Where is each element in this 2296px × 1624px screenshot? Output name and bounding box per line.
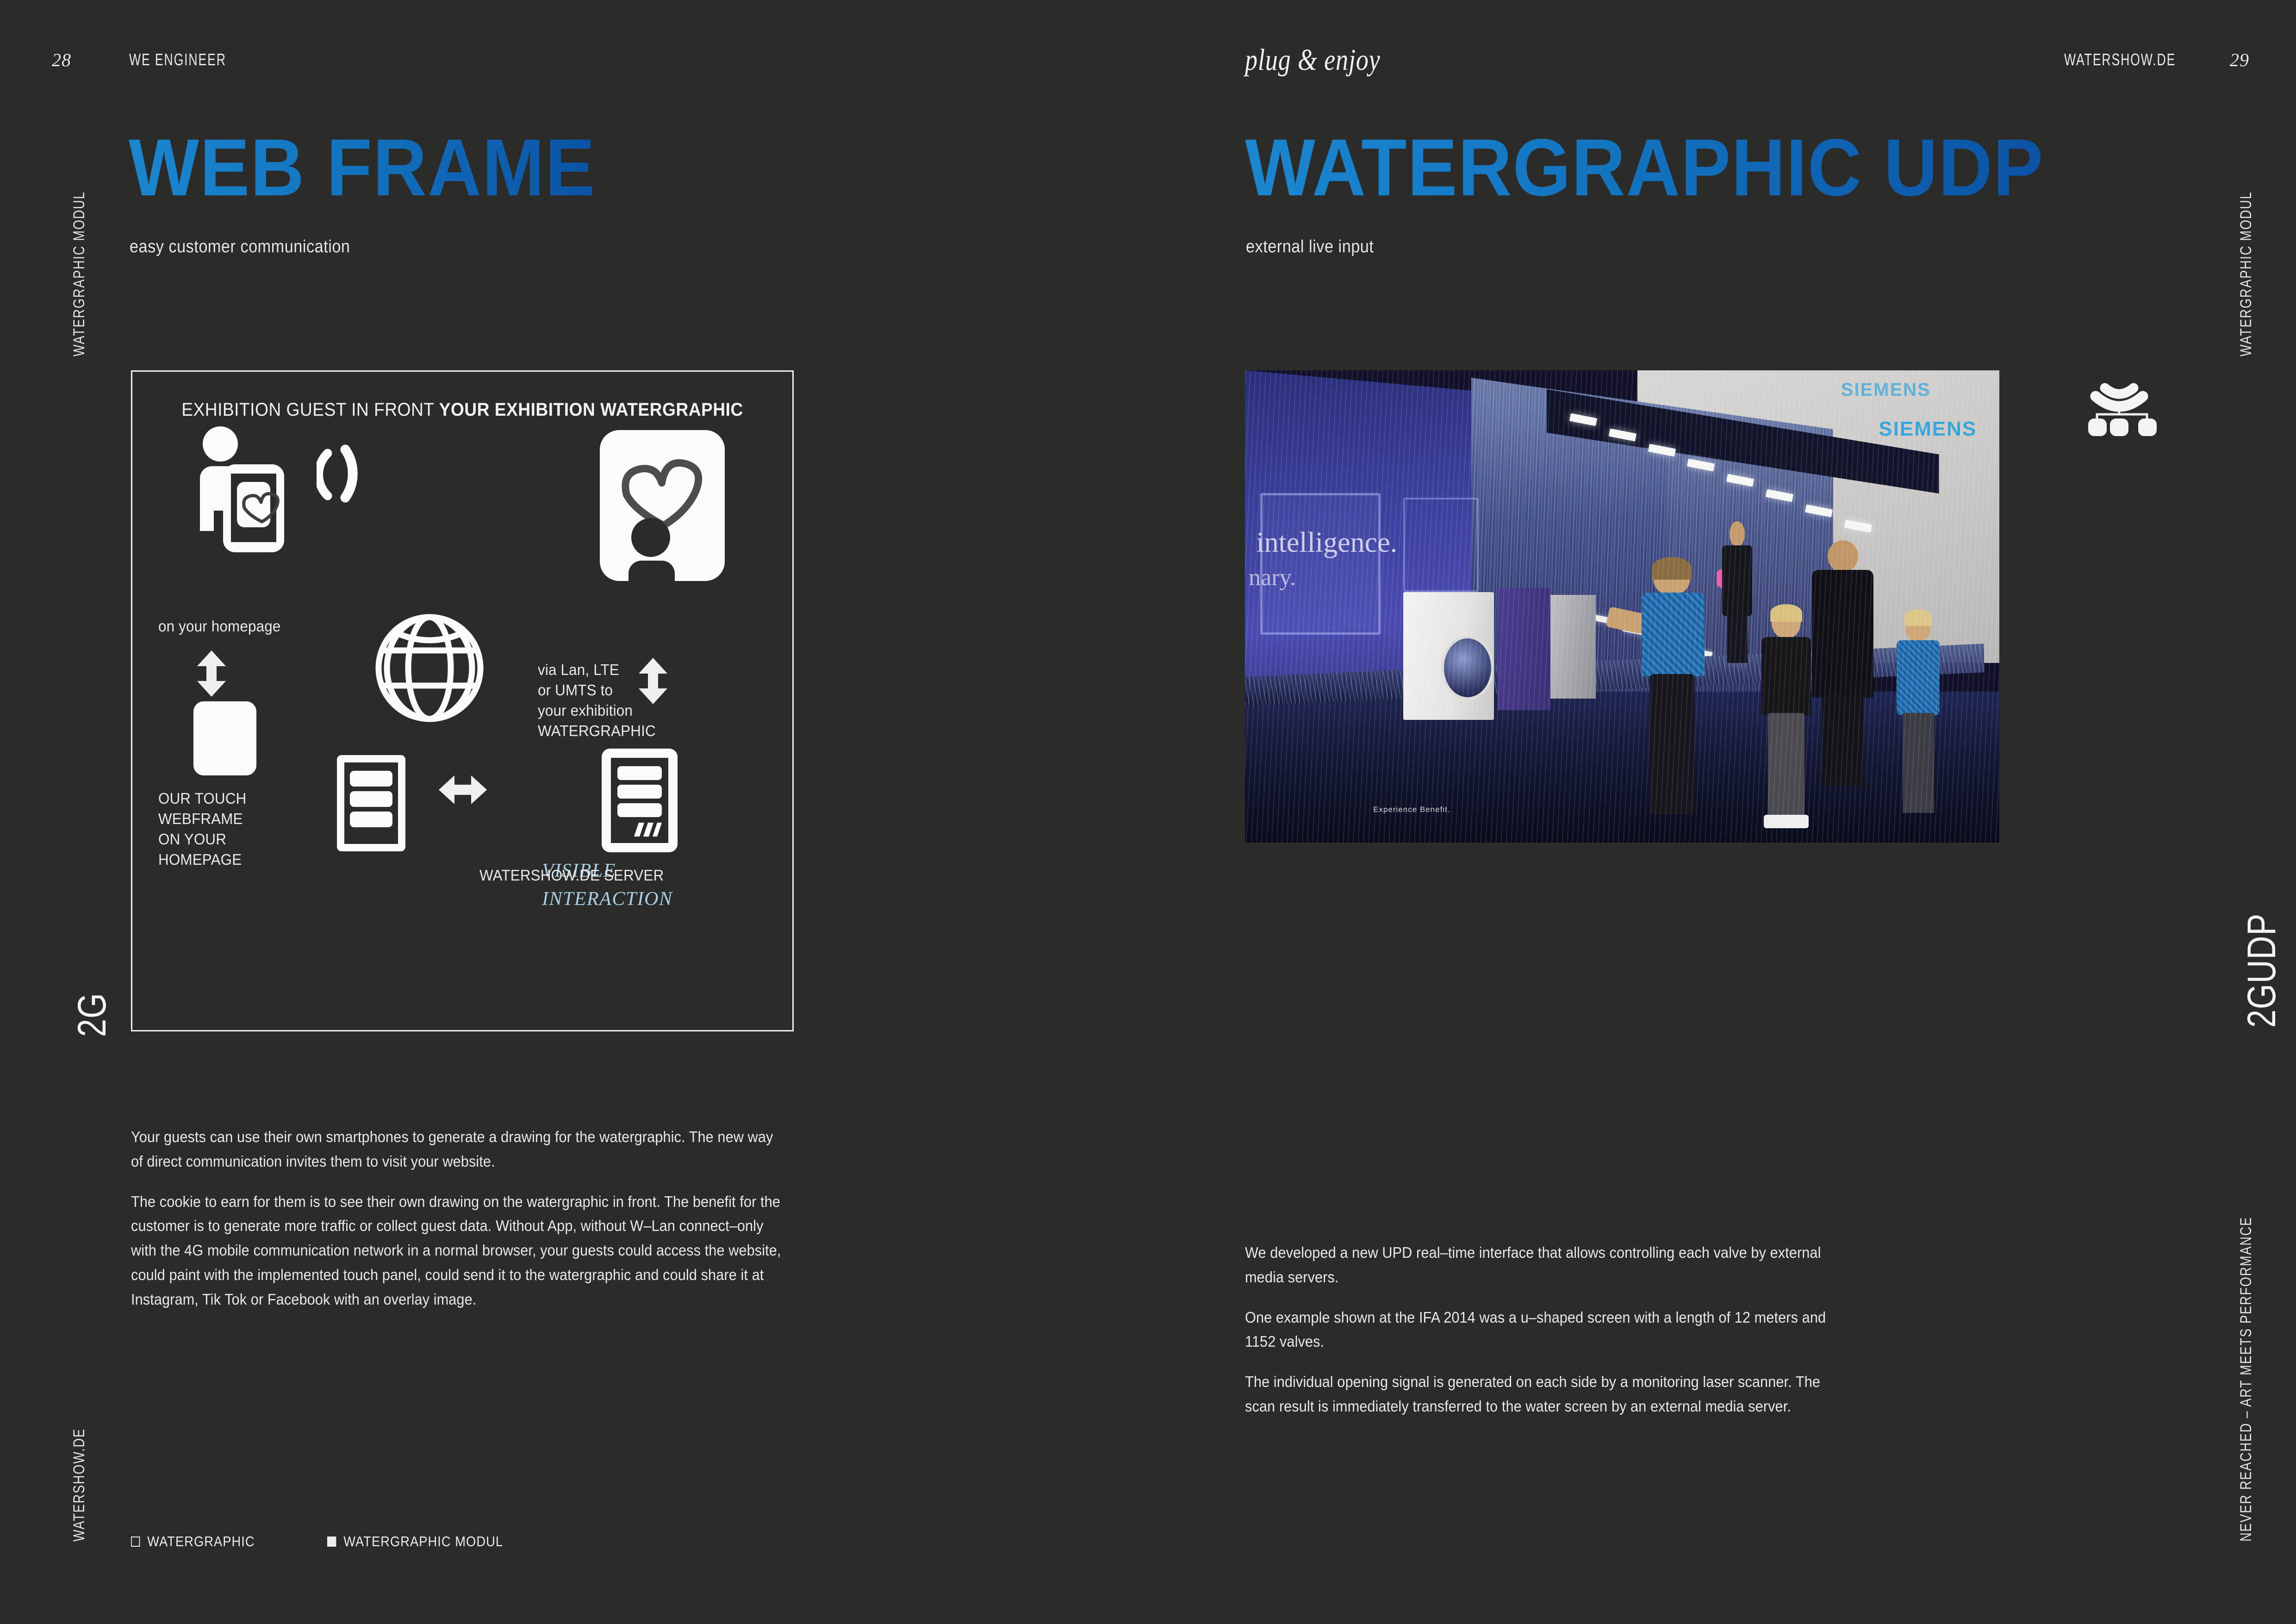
page-subtitle-left: easy customer communication <box>130 237 350 257</box>
screen-text-line1: intelligence. <box>1256 526 1397 559</box>
body-copy-right: We developed a new UPD real–time interfa… <box>1245 1241 1839 1419</box>
booth-brand: SIEMENS <box>1879 418 1977 441</box>
visitor-boy-2 <box>1894 611 1943 819</box>
visitor-woman <box>1637 559 1709 814</box>
paragraph: The individual opening signal is generat… <box>1245 1370 1839 1419</box>
side-label-right-bottom: NEVER REACHED – ART MEETS PERFORMANCE <box>2237 1217 2255 1542</box>
background-visitor <box>1720 521 1754 663</box>
page-number-left: 28 <box>52 49 71 71</box>
ghost-washer-graphic-2 <box>1403 498 1479 592</box>
stage-caption: Experience Benefit. <box>1373 805 1450 814</box>
watergraphic-photo: intelligence. nary. <box>1245 370 1999 843</box>
appliance-purple <box>1498 587 1550 710</box>
paragraph: We developed a new UPD real–time interfa… <box>1245 1241 1839 1290</box>
filled-square-icon <box>327 1537 336 1547</box>
open-square-icon <box>131 1537 140 1547</box>
touch-webframe-icon <box>193 701 256 775</box>
footer-legend: WATERGRAPHIC WATERGRAPHIC MODUL <box>131 1533 527 1550</box>
paragraph: Your guests can use their own smartphone… <box>131 1125 785 1174</box>
webframe-flow-diagram: EXHIBITION GUEST IN FRONT YOUR EXHIBITIO… <box>131 370 794 1031</box>
side-label-left-bottom: WATERSHOW.DE <box>70 1428 88 1542</box>
photo-scene: intelligence. nary. <box>1245 370 1999 843</box>
running-head-left: WE ENGINEER <box>129 50 226 69</box>
label-our-touch-webframe: OUR TOUCH WEBFRAME ON YOUR HOMEPAGE <box>158 788 246 870</box>
brochure-spread: 28 WE ENGINEER plug & enjoy WATERSHOW.DE… <box>0 0 2296 1624</box>
paragraph: One example shown at the IFA 2014 was a … <box>1245 1305 1839 1355</box>
legend-label: WATERGRAPHIC <box>147 1533 255 1550</box>
page-number-right: 29 <box>2230 49 2249 71</box>
label-via-lan-lte: via Lan, LTE or UMTS to your exhibition … <box>538 660 656 741</box>
label-watershow-server: WATERSHOW.DE SERVER <box>479 865 664 886</box>
network-broadcast-icon <box>2078 370 2160 440</box>
legend-item-watergraphic-modul[interactable]: WATERGRAPHIC MODUL <box>327 1533 503 1550</box>
running-head-right: WATERSHOW.DE <box>2064 50 2176 69</box>
side-label-left-top: WATERGRAPHIC MODUL <box>70 191 88 356</box>
page-subtitle-right: external live input <box>1246 237 1374 257</box>
side-label-right-top: WATERGRAPHIC MODUL <box>2237 191 2255 356</box>
diagram-heading: EXHIBITION GUEST IN FRONT YOUR EXHIBITIO… <box>156 400 769 420</box>
side-code-right: 2GUDP <box>2239 913 2285 1028</box>
page-title-right: WATERGRAPHIC UDP <box>1245 121 2044 214</box>
body-copy-left: Your guests can use their own smartphone… <box>131 1125 785 1312</box>
arrow-up-down-icon <box>196 650 227 697</box>
visible-interaction-line2: INTERACTION <box>542 885 673 913</box>
server-icon <box>599 746 680 855</box>
page-title-left: WEB FRAME <box>129 121 596 214</box>
watergraphic-panel-icon <box>595 427 729 585</box>
person-with-phone-icon <box>183 422 336 575</box>
diagram-heading-bold: YOUR EXHIBITION WATERGRAPHIC <box>439 400 743 420</box>
visitor-boy <box>1758 606 1814 824</box>
diagram-heading-normal: EXHIBITION GUEST IN FRONT <box>181 400 439 420</box>
legend-label: WATERGRAPHIC MODUL <box>343 1533 503 1550</box>
label-on-your-homepage: on your homepage <box>158 616 280 637</box>
side-code-left: 2G <box>69 993 115 1037</box>
plug-and-enjoy-mark: plug & enjoy <box>1245 43 1380 78</box>
appliance-steel <box>1550 595 1596 699</box>
legend-item-watergraphic[interactable]: WATERGRAPHIC <box>131 1533 255 1550</box>
booth-brand-partial: SIEMENS <box>1841 380 1931 400</box>
webframe-device-icon <box>334 752 408 854</box>
visitor-man <box>1811 540 1875 786</box>
screen-text-line2: nary. <box>1249 564 1296 591</box>
arrow-left-right-icon <box>439 775 487 805</box>
paragraph: The cookie to earn for them is to see th… <box>131 1190 785 1312</box>
washing-machine <box>1403 592 1494 719</box>
globe-icon <box>372 611 487 725</box>
dark-floor <box>1245 692 1999 843</box>
wifi-signal-icon <box>317 437 372 506</box>
